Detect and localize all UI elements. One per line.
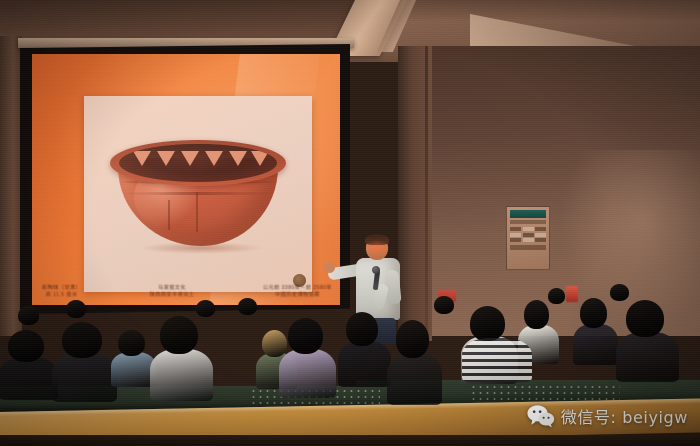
notice-cell (523, 233, 534, 237)
slide-caption: 彩陶钵（甘肃） 高 11.5 厘米 马家窑文化 陕西西安半坡出土 公元前 338… (42, 285, 332, 299)
projection-screen: 彩陶钵（甘肃） 高 11.5 厘米 马家窑文化 陕西西安半坡出土 公元前 338… (20, 44, 350, 314)
desk-under-shadow (0, 435, 700, 446)
attendee-dark-hair-left-shoulders (0, 357, 58, 400)
notice-footer (510, 245, 546, 250)
caption-column: 马家窑文化 陕西西安半坡出土 (150, 285, 195, 299)
notice-cell (510, 233, 521, 237)
attendee-glasses-shoulders (573, 324, 618, 365)
photo-projector-tint (84, 96, 312, 292)
attendee-back-2 (66, 300, 86, 318)
caption-line: 彩陶钵（甘肃） (42, 285, 81, 292)
screenshot-root: 彩陶钵（甘肃） 高 11.5 厘米 马家窑文化 陕西西安半坡出土 公元前 338… (0, 0, 700, 446)
presenter-face-glow (364, 240, 390, 256)
attendee-long-hair (396, 320, 429, 358)
attendee-far-right-shoulders (616, 332, 679, 382)
notice-cell (510, 227, 521, 231)
attendee-back-5 (434, 296, 454, 314)
ceiling-shadow-left (0, 0, 360, 40)
attendee-white-blouse (524, 300, 549, 329)
attendee-back-3 (196, 300, 215, 317)
caption-line: 公元前 3380年－前 2580年 (263, 285, 332, 292)
wall-highlight (560, 150, 700, 330)
notice-cell (535, 233, 546, 237)
attendee-back-6 (548, 288, 565, 304)
attendee-light-hair (262, 330, 287, 357)
attendee-dark-right-shoulders (279, 349, 336, 398)
attendee-dark-right (288, 318, 323, 354)
attendee-blue-shirt (118, 330, 145, 356)
caption-line: 马家窑文化 (150, 285, 195, 292)
notice-subheader (510, 220, 546, 224)
watermark: 微信号: beiyigw (527, 404, 688, 428)
attendee-back-4 (238, 298, 257, 315)
attendee-back-1 (18, 306, 39, 325)
attendee-bun-left (62, 322, 102, 358)
notice-cell (523, 227, 534, 231)
attendee-far-right (626, 300, 664, 337)
caption-column: 彩陶钵（甘肃） 高 11.5 厘米 (42, 285, 81, 299)
notice-cell (510, 238, 521, 242)
slide-photo-panel (84, 96, 312, 292)
notice-cell (535, 227, 546, 231)
notice-cell (523, 238, 534, 242)
red-sign-right (566, 286, 578, 302)
attendee-glasses (580, 298, 607, 328)
caption-column: 公元前 3380年－前 2580年 中国历史博物馆藏 (263, 285, 332, 299)
presenter-left-hand (324, 262, 335, 273)
attendee-mid-back (346, 312, 378, 346)
attendee-back-7 (610, 284, 629, 301)
wall-left-strip (0, 36, 22, 336)
striped-shirt-pattern (462, 338, 532, 382)
attendee-dark-hair-left (8, 330, 44, 362)
caption-line: 中国历史博物馆藏 (263, 292, 332, 299)
caption-line: 陕西西安半坡出土 (150, 292, 195, 299)
notice-cell (535, 238, 546, 242)
attendee-striped-shirt (470, 306, 505, 341)
attendee-mid-back-shoulders (338, 341, 391, 387)
caption-line: 高 11.5 厘米 (42, 292, 81, 299)
attendee-bun-left-shoulders (52, 353, 117, 402)
microphone-head (372, 266, 380, 274)
wechat-icon (527, 404, 555, 428)
notice-text-grid (510, 227, 546, 242)
slide-surface: 彩陶钵（甘肃） 高 11.5 厘米 马家窑文化 陕西西安半坡出土 公元前 338… (32, 54, 340, 305)
watermark-text: 微信号: beiyigw (561, 404, 688, 428)
wall-notice-board (506, 206, 550, 270)
attendee-long-hair-shoulders (387, 353, 442, 405)
attendee-white-shirt-shoulders (150, 349, 213, 401)
notice-header-bar (510, 210, 546, 218)
attendee-white-shirt (160, 316, 198, 354)
